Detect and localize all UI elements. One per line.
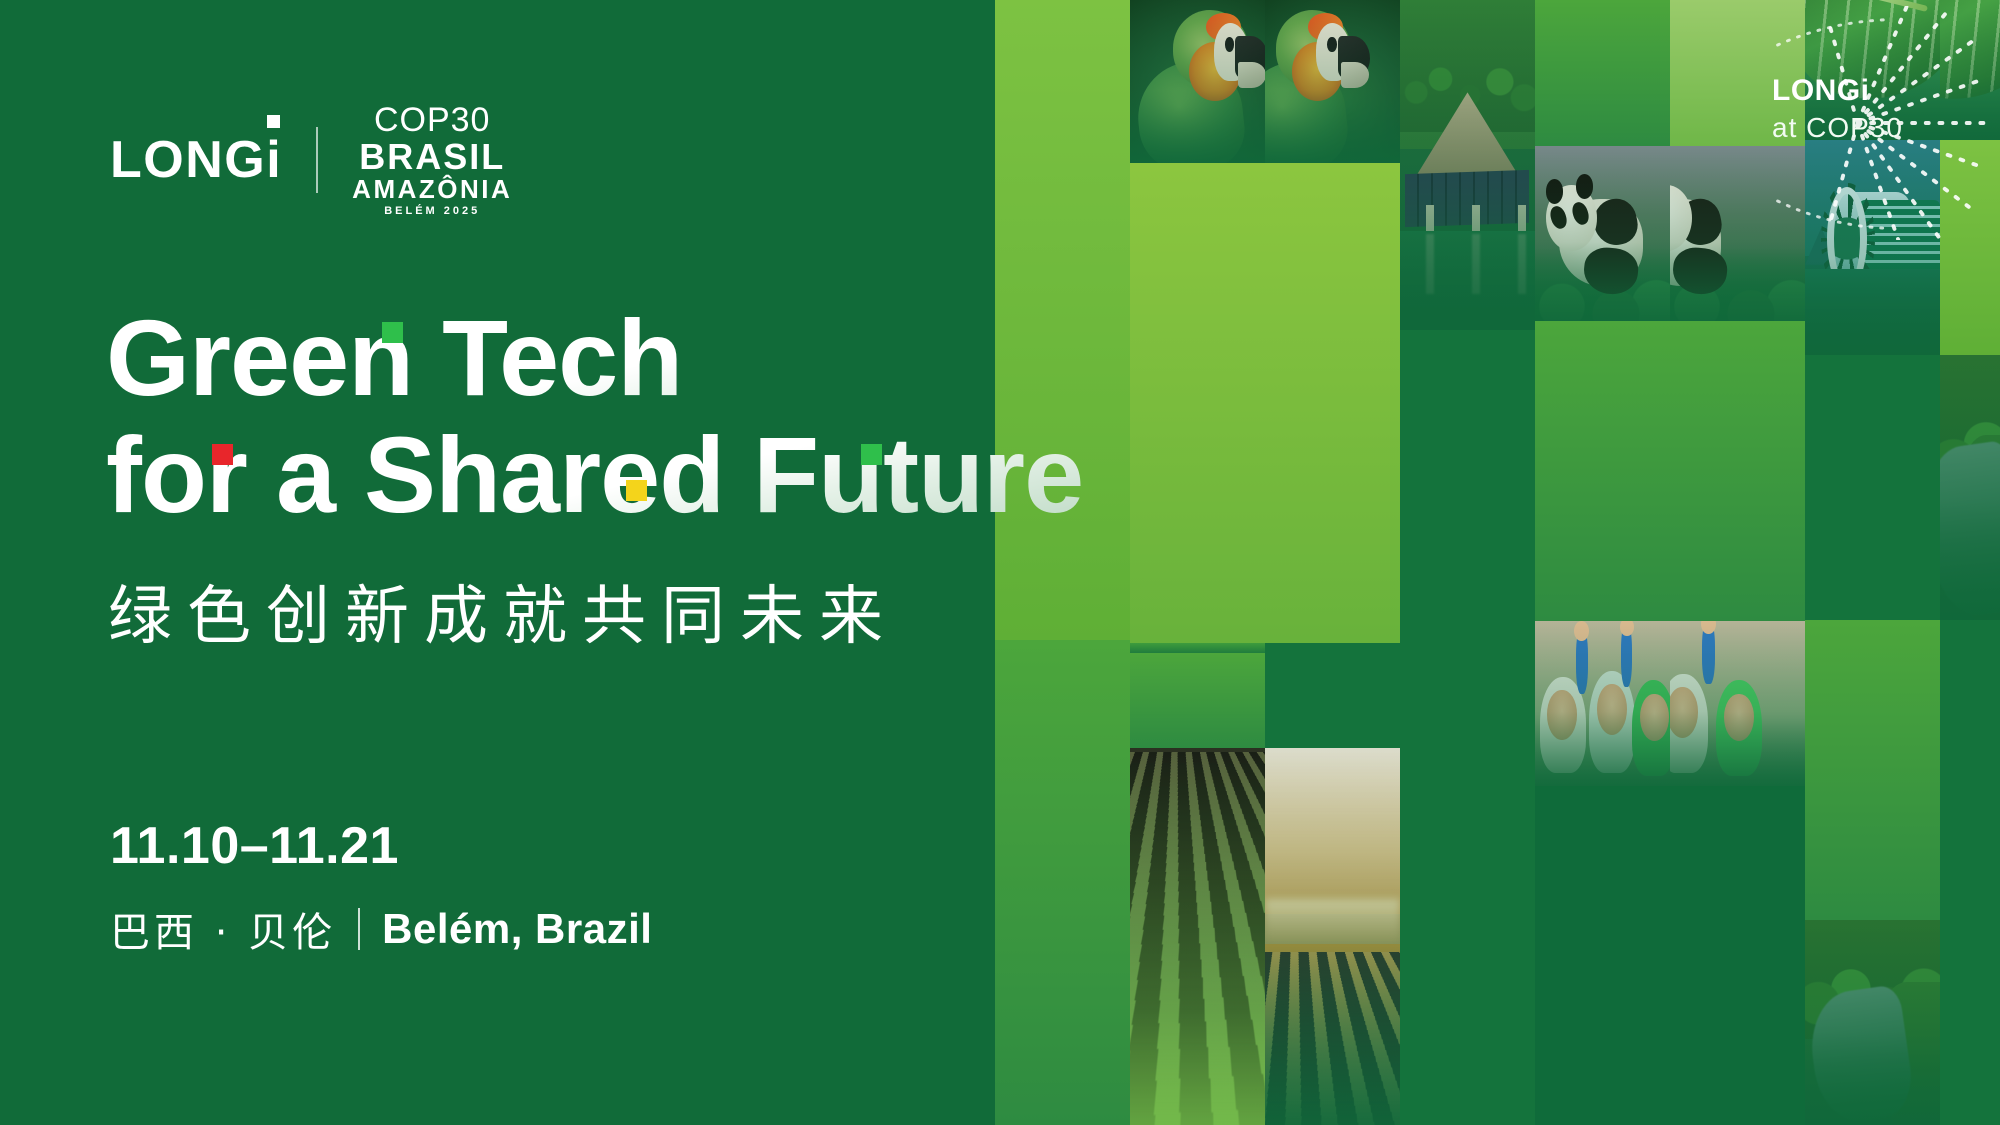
panel-grass-5 (1670, 321, 1805, 621)
panel-lime-3 (1265, 163, 1400, 643)
event-info: 11.10–11.21 巴西 · 贝伦 Belém, Brazil (110, 820, 652, 958)
badge-line-1: LONGi (1772, 76, 1903, 106)
panel-grass (995, 640, 1130, 1125)
panel-grass-2 (1130, 653, 1265, 748)
headline-subtitle-cn: 绿色创新成就共同未来 (108, 565, 898, 657)
event-location-cn: 巴西 · 贝伦 (110, 900, 336, 958)
panel-lime-2 (1130, 163, 1265, 643)
collage-column-5 (1535, 0, 1670, 1125)
headline-block: Green Tech for a Shared Future (106, 300, 1083, 533)
poster-canvas: LONGi COP30 BRASIL AMAZÔNIA BELÉM 2025 G… (0, 0, 2000, 1125)
photo-macaw-parrot (1130, 0, 1265, 163)
logo-bar: LONGi COP30 BRASIL AMAZÔNIA BELÉM 2025 (110, 103, 512, 217)
photo-macaw-parrot-2 (1265, 0, 1400, 163)
accent-square-red (212, 444, 233, 465)
photo-solar-panel-rows (1130, 748, 1265, 1125)
longi-logo: LONGi (110, 134, 282, 186)
cop30-line-1: COP30 (352, 103, 512, 137)
event-dates: 11.10–11.21 (110, 820, 652, 872)
photo-desert-solar-sunset (1265, 748, 1400, 1125)
collage-column-1 (995, 0, 1130, 1125)
logo-divider (316, 127, 318, 193)
location-divider (358, 908, 360, 950)
headline-line-2: for a Shared Future (106, 417, 1083, 534)
accent-square-green (382, 322, 403, 343)
panel-deep-6 (1940, 620, 2000, 1125)
badge-text: LONGi at COP30 (1772, 76, 1903, 142)
panel-deep (1265, 643, 1400, 748)
photo-mangrove-river-2 (1940, 355, 2000, 620)
photo-thatched-hut-solar (1400, 0, 1535, 330)
panel-deep-3 (1535, 786, 1670, 1125)
content-area: LONGi COP30 BRASIL AMAZÔNIA BELÉM 2025 G… (0, 0, 1010, 1125)
panel-mid (1130, 643, 1265, 653)
panel-deep-4 (1670, 786, 1805, 1125)
panel-deep-5 (1805, 355, 1940, 620)
collage-column-2 (1130, 0, 1265, 1125)
cop30-logo: COP30 BRASIL AMAZÔNIA BELÉM 2025 (352, 103, 512, 217)
accent-square-green-2 (861, 444, 882, 465)
cop30-line-2: BRASIL (352, 139, 512, 175)
badge-line-2: at COP30 (1772, 114, 1903, 142)
collage-column-4 (1400, 0, 1535, 1125)
panel-grass-3 (1535, 0, 1670, 146)
photo-giant-panda (1535, 146, 1670, 321)
collage-column-3 (1265, 0, 1400, 1125)
longi-logo-dot (267, 115, 280, 128)
cop30-line-4: BELÉM 2025 (352, 206, 512, 217)
photo-school-girls-2 (1670, 621, 1805, 786)
longi-logo-text: LONGi (110, 131, 282, 189)
event-location-en: Belém, Brazil (382, 905, 652, 953)
longi-at-cop30-badge: LONGi at COP30 (1754, 46, 1986, 196)
cop30-line-3: AMAZÔNIA (352, 176, 512, 202)
headline-line-1: Green Tech (106, 300, 1083, 417)
accent-square-yellow (626, 480, 647, 501)
photo-mangrove-river (1805, 920, 1940, 1125)
photo-school-girls (1535, 621, 1670, 786)
panel-grass-6 (1805, 620, 1940, 920)
panel-grass-4 (1535, 321, 1670, 621)
panel-deep-2 (1400, 330, 1535, 1125)
event-location: 巴西 · 贝伦 Belém, Brazil (110, 900, 652, 958)
